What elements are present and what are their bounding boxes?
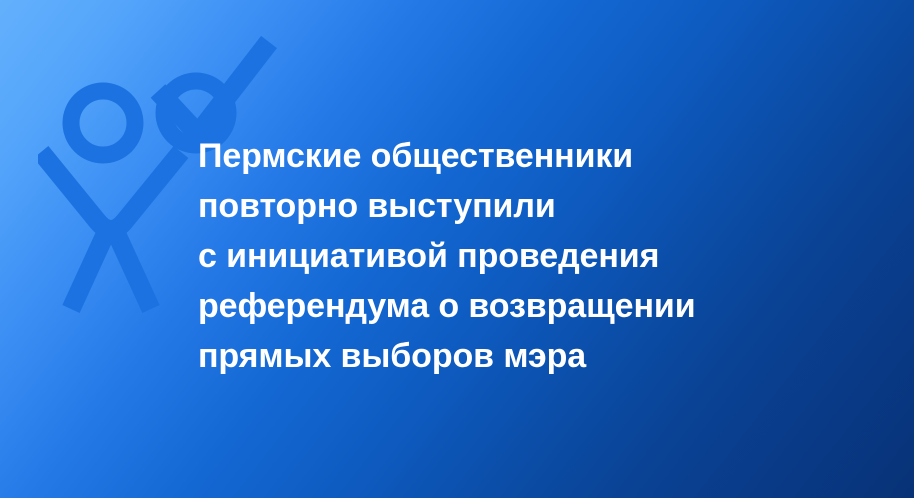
headline-line-3: с инициативой проведения bbox=[198, 231, 858, 281]
news-cover-card: Пермские общественники повторно выступил… bbox=[0, 0, 914, 498]
legs-lambda-icon bbox=[71, 231, 151, 310]
headline-line-2: повторно выступили bbox=[198, 181, 858, 231]
left-ring-icon bbox=[71, 91, 135, 155]
headline-line-4: референдума о возвращении bbox=[198, 281, 858, 331]
headline-line-1: Пермские общественники bbox=[198, 131, 858, 181]
headline: Пермские общественники повторно выступил… bbox=[198, 131, 858, 381]
headline-line-5: прямых выборов мэра bbox=[198, 331, 858, 381]
arms-u-curve-icon bbox=[41, 152, 181, 230]
checkmark-icon bbox=[158, 42, 269, 134]
